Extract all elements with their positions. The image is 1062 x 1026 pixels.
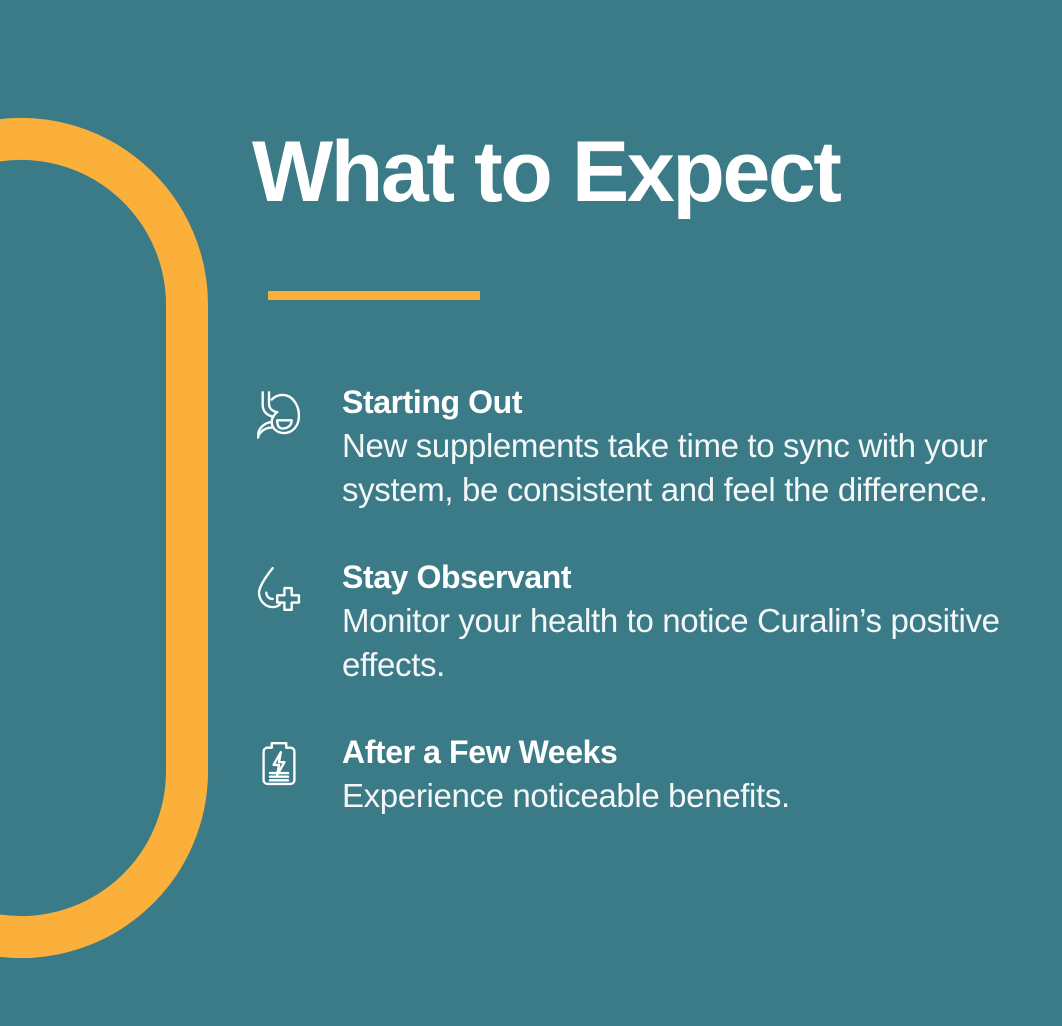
list-item: Stay Observant Monitor your health to no… <box>250 556 1040 687</box>
slide-canvas: What to Expect Starting Out New suppleme… <box>0 0 1062 1026</box>
list-item: Starting Out New supplements take time t… <box>250 381 1040 512</box>
list-item-heading: After a Few Weeks <box>342 731 1040 773</box>
title-accent-bar <box>268 291 480 300</box>
list-item: After a Few Weeks Experience noticeable … <box>250 731 1040 818</box>
page-title: What to Expect <box>252 129 840 215</box>
list-item-text: After a Few Weeks Experience noticeable … <box>342 731 1040 818</box>
list-item-heading: Starting Out <box>342 381 1040 423</box>
droplet-medical-cross-icon <box>250 560 308 618</box>
list-item-heading: Stay Observant <box>342 556 1040 598</box>
expectation-list: Starting Out New supplements take time t… <box>250 381 1040 818</box>
list-item-body: New supplements take time to sync with y… <box>342 424 1032 512</box>
list-item-text: Starting Out New supplements take time t… <box>342 381 1040 512</box>
stomach-icon <box>250 385 308 443</box>
list-item-body: Experience noticeable benefits. <box>342 774 1032 818</box>
list-item-text: Stay Observant Monitor your health to no… <box>342 556 1040 687</box>
list-item-body: Monitor your health to notice Curalin’s … <box>342 599 1032 687</box>
battery-charge-icon <box>250 735 308 793</box>
